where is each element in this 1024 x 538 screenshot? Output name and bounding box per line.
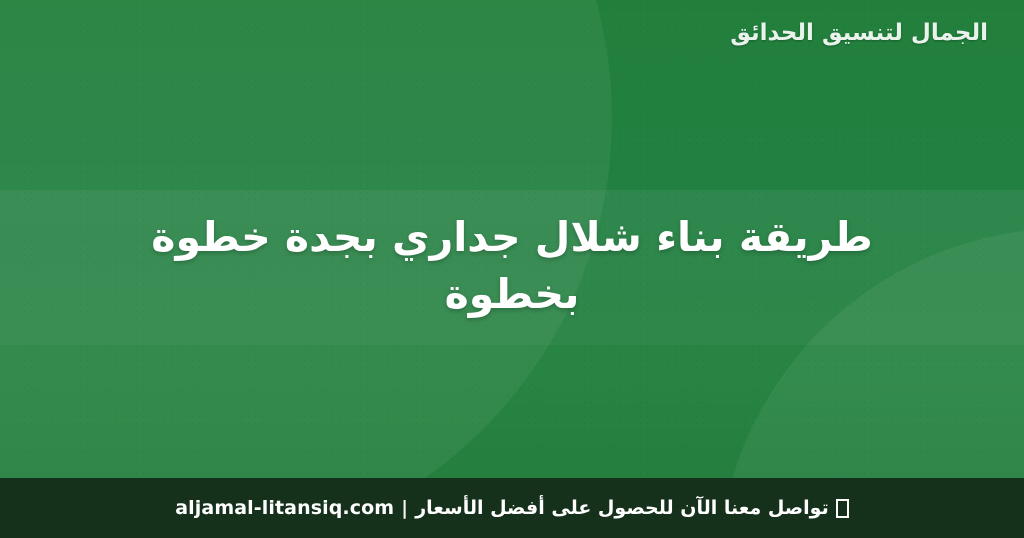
footer-website-link[interactable]: aljamal-litansiq.com [175,497,394,519]
footer-bar: تواصل معنا الآن للحصول على أفضل الأسعار … [0,478,1024,538]
brand-logo-text: الجمال لتنسيق الحدائق [730,19,988,48]
headline-container: طريقة بناء شلال جداري بجدة خطوة بخطوة [0,182,1024,350]
footer-cta-text: تواصل معنا الآن للحصول على أفضل الأسعار [415,497,829,519]
page-title: طريقة بناء شلال جداري بجدة خطوة بخطوة [107,209,917,322]
phone-icon [836,499,849,518]
footer-separator: | [401,497,408,519]
footer-contact-strip: تواصل معنا الآن للحصول على أفضل الأسعار … [175,497,848,519]
promotional-banner: الجمال لتنسيق الحدائق طريقة بناء شلال جد… [0,0,1024,538]
